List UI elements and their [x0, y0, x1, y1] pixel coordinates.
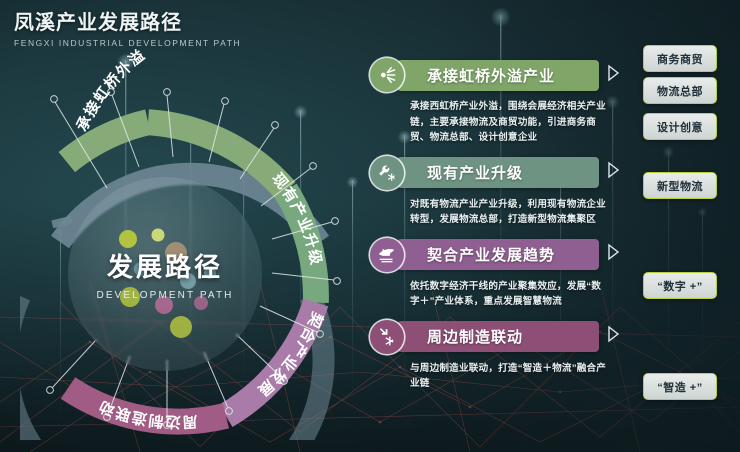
- chevron-right-icon[interactable]: [606, 64, 620, 87]
- chevron-right-icon[interactable]: [606, 161, 620, 184]
- card-item[interactable]: 现有产业升级 对既有物流产业产业升级，利用现有物流企业转型，发展物流总部，打造新…: [370, 156, 620, 228]
- tag-chip[interactable]: 物流总部: [643, 77, 717, 104]
- card-title: 承接虹桥外溢产业: [427, 65, 555, 86]
- card-title: 现有产业升级: [427, 162, 523, 183]
- chevron-right-icon[interactable]: [606, 243, 620, 266]
- card-item[interactable]: 契合产业发展趋势 依托数字经济干线的产业聚集效应，发展“数字＋”产业体系，重点发…: [370, 238, 620, 310]
- card-header[interactable]: 现有产业升级: [370, 156, 620, 190]
- rocket-icon: [370, 238, 404, 272]
- center-label-block: 发展路径 DEVELOPMENT PATH: [68, 177, 262, 371]
- card-item[interactable]: 承接虹桥外溢产业 承接西虹桥产业外溢，围绕会展经济相关产业链，主要承接物流及商贸…: [370, 58, 620, 146]
- infographic-canvas: 凤溪产业发展路径 FENGXI INDUSTRIAL DEVELOPMENT P…: [0, 0, 740, 452]
- card-title: 契合产业发展趋势: [427, 244, 555, 265]
- wrench-sparkle-icon: [370, 156, 404, 190]
- arrow-sparkle-icon: [370, 320, 404, 354]
- tag-chip[interactable]: “智造 +”: [643, 373, 717, 400]
- arc-label-4: 周边制造联动: [96, 397, 198, 431]
- card-title-pill[interactable]: 契合产业发展趋势: [397, 239, 599, 270]
- card-item[interactable]: 周边制造联动 与周边制造业联动，打造“智造＋物流”融合产业链: [370, 320, 620, 392]
- card-header[interactable]: 周边制造联动: [370, 320, 620, 354]
- burst-icon: [370, 58, 404, 92]
- card-title-pill[interactable]: 周边制造联动: [397, 321, 599, 352]
- card-description: 对既有物流产业产业升级，利用现有物流企业转型，发展物流总部，打造新型物流集聚区: [410, 197, 610, 228]
- card-title-pill[interactable]: 现有产业升级: [397, 157, 599, 188]
- tag-chip[interactable]: “数字 +”: [643, 272, 717, 299]
- tag-chip[interactable]: 商务商贸: [643, 45, 717, 72]
- center-subtitle: DEVELOPMENT PATH: [97, 290, 234, 301]
- card-description: 与周边制造业联动，打造“智造＋物流”融合产业链: [410, 361, 610, 392]
- card-list: 承接虹桥外溢产业 承接西虹桥产业外溢，围绕会展经济相关产业链，主要承接物流及商贸…: [370, 58, 620, 402]
- tag-chip[interactable]: 新型物流: [643, 172, 717, 199]
- card-header[interactable]: 契合产业发展趋势: [370, 238, 620, 272]
- chevron-right-icon[interactable]: [606, 325, 620, 348]
- tag-chip[interactable]: 设计创意: [643, 113, 717, 140]
- card-description: 依托数字经济干线的产业聚集效应，发展“数字＋”产业体系，重点发展智慧物流: [410, 279, 610, 310]
- card-description: 承接西虹桥产业外溢，围绕会展经济相关产业链，主要承接物流及商贸功能，引进商务商贸…: [410, 99, 610, 146]
- center-title: 发展路径: [107, 247, 223, 284]
- card-title: 周边制造联动: [427, 326, 523, 347]
- card-header[interactable]: 承接虹桥外溢产业: [370, 58, 620, 92]
- card-title-pill[interactable]: 承接虹桥外溢产业: [397, 60, 599, 91]
- page-title: 凤溪产业发展路径: [14, 6, 241, 35]
